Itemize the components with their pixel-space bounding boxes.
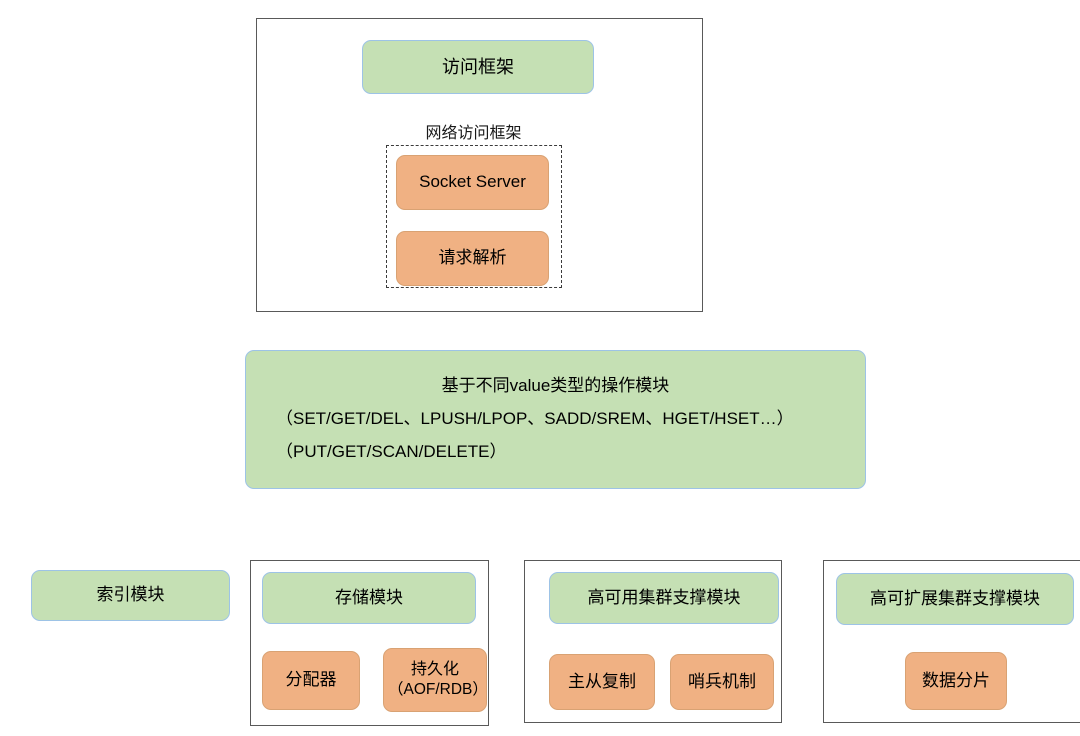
socket-server-box[interactable]: Socket Server (396, 155, 549, 210)
operations-module-line-1: 基于不同value类型的操作模块 (260, 375, 851, 398)
data-sharding-box[interactable]: 数据分片 (905, 652, 1007, 710)
scalable-cluster-module-header[interactable]: 高可扩展集群支撑模块 (836, 573, 1074, 625)
sentinel-mechanism-box[interactable]: 哨兵机制 (670, 654, 774, 710)
storage-persistence-label-line2: （AOF/RDB） (388, 680, 482, 701)
ha-cluster-module-header[interactable]: 高可用集群支撑模块 (549, 572, 779, 624)
storage-persistence-label-line1: 持久化 (388, 659, 482, 681)
operations-module-box[interactable]: 基于不同value类型的操作模块 （SET/GET/DEL、LPUSH/LPOP… (245, 350, 866, 489)
storage-persistence-box[interactable]: 持久化 （AOF/RDB） (383, 648, 487, 712)
index-module-box[interactable]: 索引模块 (31, 570, 230, 621)
master-slave-replication-box[interactable]: 主从复制 (549, 654, 655, 710)
request-parsing-box[interactable]: 请求解析 (396, 231, 549, 286)
storage-allocator-box[interactable]: 分配器 (262, 651, 360, 710)
storage-module-header[interactable]: 存储模块 (262, 572, 476, 624)
access-framework-title-box[interactable]: 访问框架 (362, 40, 594, 94)
operations-module-line-3: （PUT/GET/SCAN/DELETE） (260, 441, 851, 464)
diagram-canvas: 访问框架 网络访问框架 Socket Server 请求解析 基于不同value… (0, 0, 1080, 736)
network-access-framework-caption: 网络访问框架 (385, 119, 562, 143)
operations-module-line-2: （SET/GET/DEL、LPUSH/LPOP、SADD/SREM、HGET/H… (260, 408, 851, 431)
